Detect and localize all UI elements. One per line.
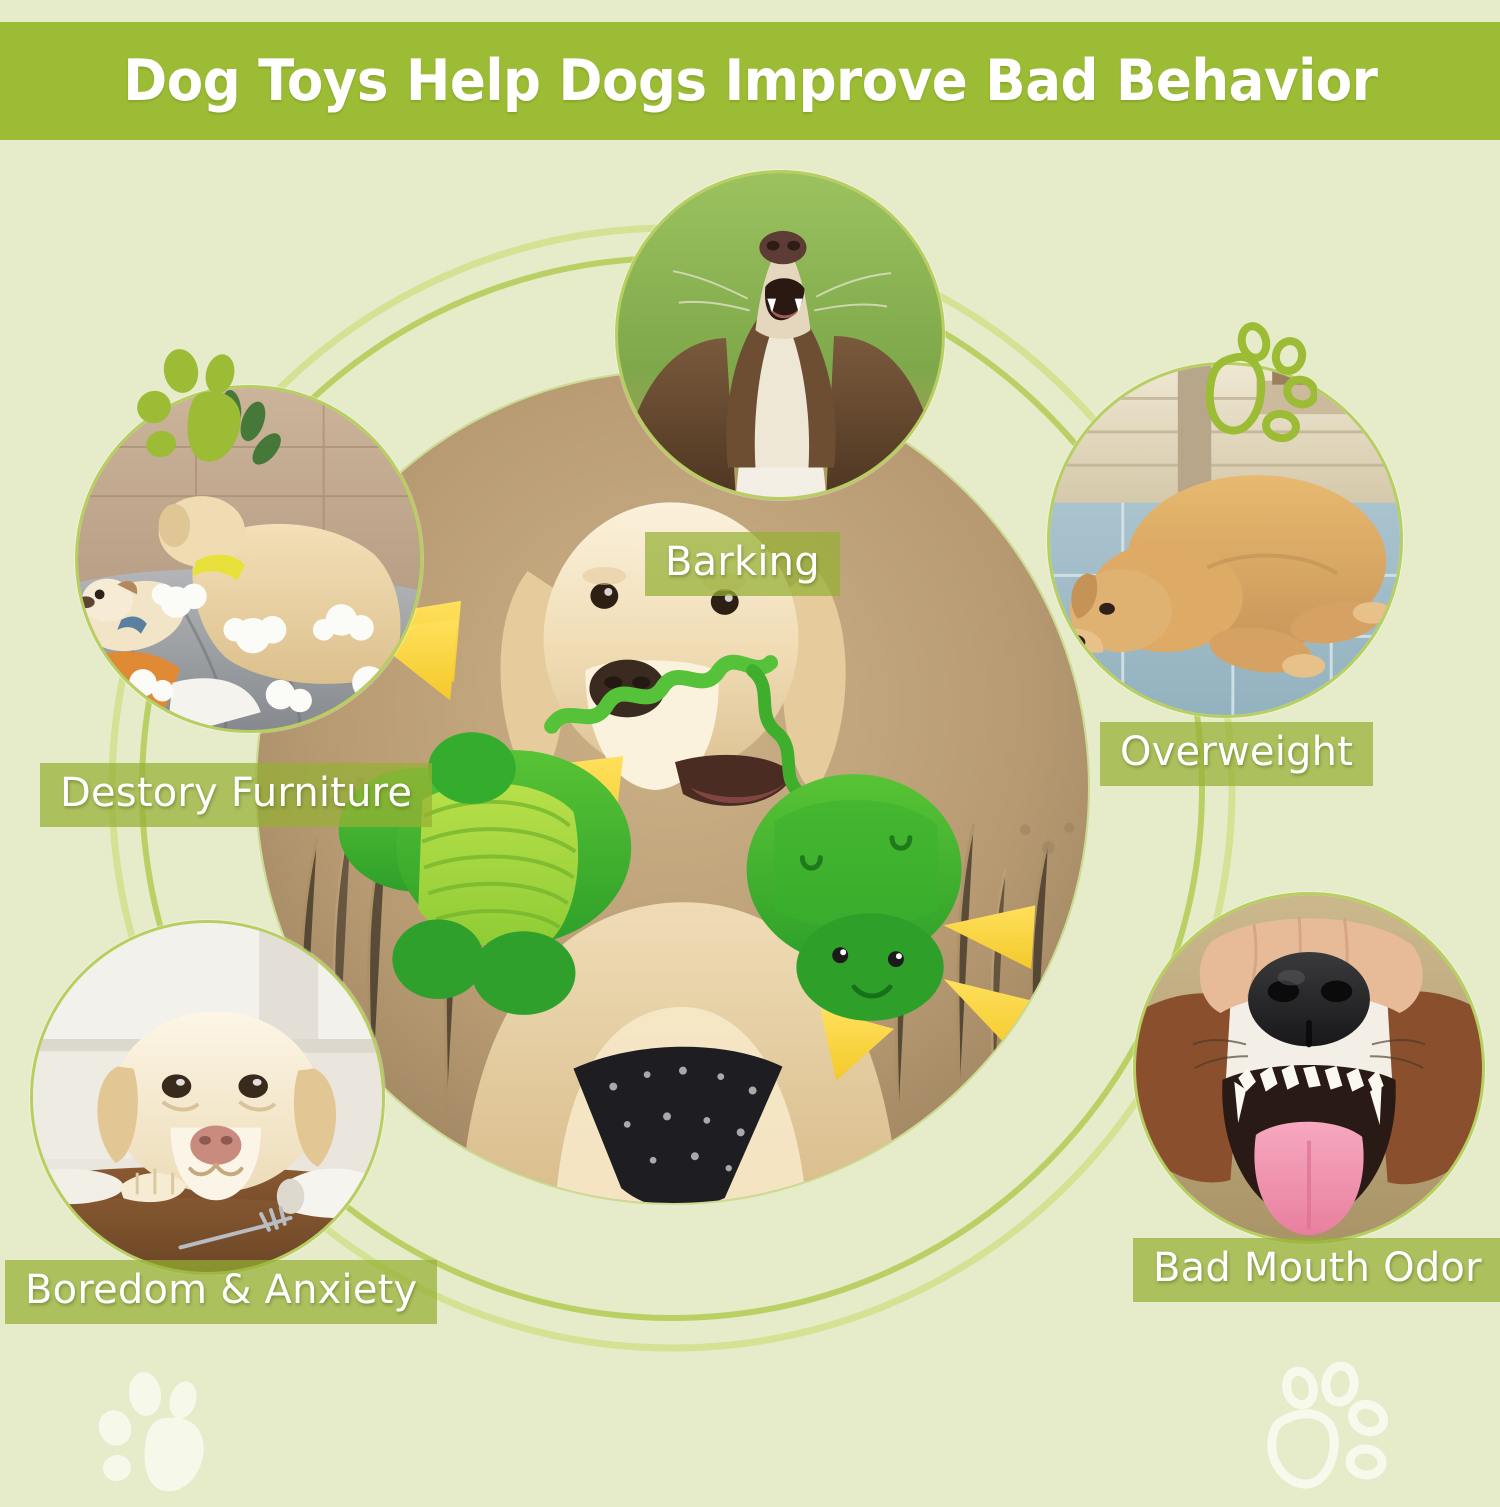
label-barking: Barking [645,532,840,596]
label-boredom-anxiety: Boredom & Anxiety [5,1260,437,1324]
dog-barking-looking-up-image [618,173,942,497]
label-destroy-furniture: Destory Furniture [40,763,432,827]
page-title: Dog Toys Help Dogs Improve Bad Behavior [123,53,1377,110]
photo-circle-bad-mouth-odor [1133,892,1485,1244]
paw-print-icon-top-left [136,345,261,465]
paw-print-icon-top-right [1197,322,1317,444]
top-margin-strip [0,0,1500,22]
photo-circle-barking [615,170,945,500]
label-bad-mouth-odor: Bad Mouth Odor [1133,1238,1500,1302]
infographic-stage: Dog Toys Help Dogs Improve Bad Behavior [0,0,1500,1500]
label-overweight: Overweight [1100,722,1373,786]
dog-open-mouth-teeth-tongue-image [1136,895,1482,1241]
header-banner: Dog Toys Help Dogs Improve Bad Behavior [0,22,1500,140]
paw-print-icon-bottom-right [1258,1362,1408,1502]
photo-circle-boredom-anxiety [30,920,385,1275]
bored-labrador-on-table-image [33,923,382,1272]
paw-print-icon-bottom-left [95,1372,230,1497]
infographic-body: Barking Destory Furniture Overweight Bor… [0,140,1500,1500]
